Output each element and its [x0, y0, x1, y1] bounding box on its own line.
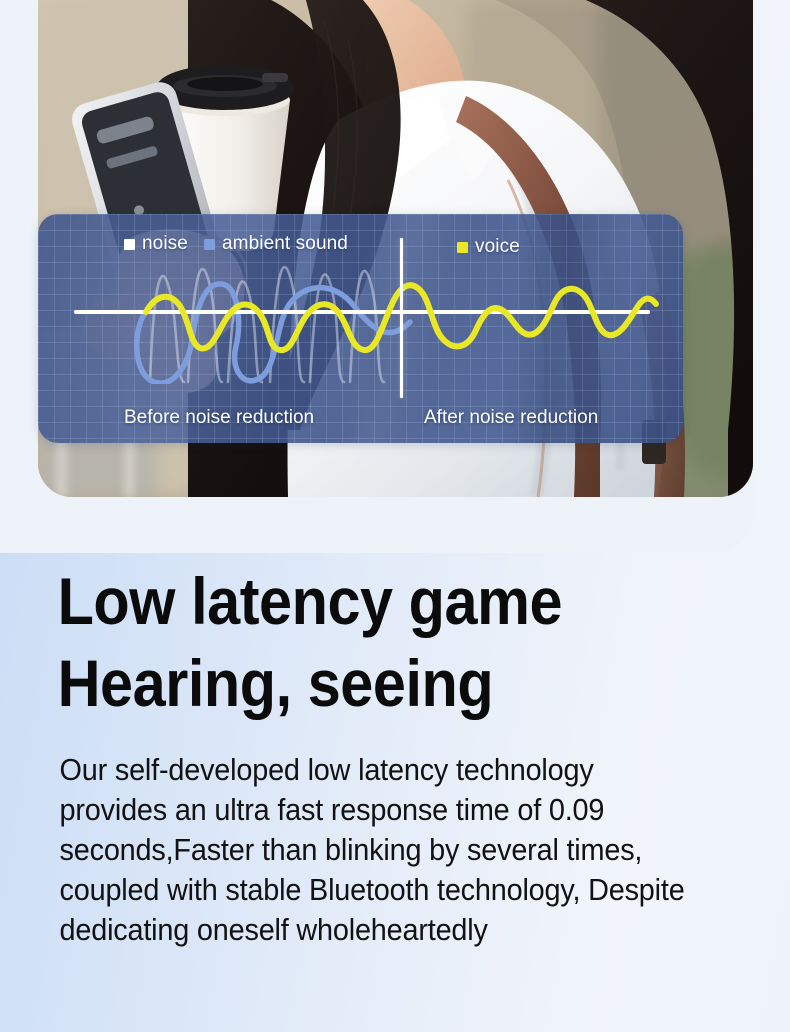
legend-item-ambient-sound: ambient sound — [204, 233, 348, 255]
legend-item-voice: voice — [457, 236, 520, 258]
legend-label-ambient-sound: ambient sound — [222, 233, 348, 255]
body-paragraph: Our self-developed low latency technolog… — [0, 724, 692, 950]
ambient-sound-square-marker-icon — [204, 239, 215, 250]
noise-square-marker-icon — [124, 239, 135, 250]
chart-legend: noise ambient sound voice — [124, 232, 654, 258]
hero-section: noise ambient sound voice — [0, 0, 790, 560]
voice-square-marker-icon — [457, 242, 468, 253]
noise-reduction-overlay: noise ambient sound voice — [38, 214, 683, 443]
headline-line-1: Low latency game — [58, 560, 711, 642]
legend-label-noise: noise — [142, 233, 188, 255]
caption-after-noise-reduction: After noise reduction — [424, 407, 598, 429]
waveform-chart — [38, 264, 683, 384]
page-title: Low latency game Hearing, seeing — [0, 560, 711, 724]
legend-item-noise: noise — [124, 233, 188, 255]
caption-before-noise-reduction: Before noise reduction — [124, 407, 314, 429]
content-section: Low latency game Hearing, seeing Our sel… — [0, 560, 790, 950]
before-after-divider — [400, 238, 403, 398]
legend-label-voice: voice — [475, 236, 520, 258]
headline-line-2: Hearing, seeing — [58, 642, 711, 724]
